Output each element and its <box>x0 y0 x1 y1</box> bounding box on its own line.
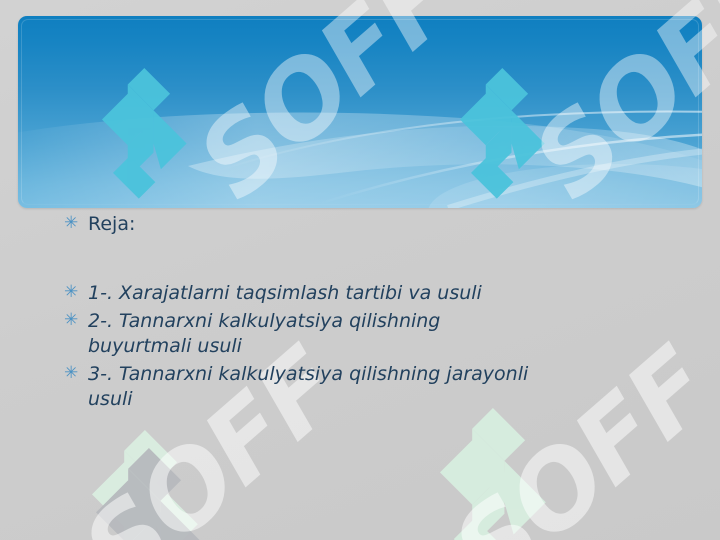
list-item: ✳ 1-. Xarajatlarni taqsimlash tartibi va… <box>64 281 664 306</box>
presentation-slide: SOFF SOFF SOFF SOFF ✳ Reja: ✳ 1-. Xaraja… <box>0 0 720 540</box>
decorative-header-banner <box>18 16 702 208</box>
asterisk-bullet-icon: ✳ <box>64 309 88 332</box>
banner-artwork <box>18 16 702 208</box>
content-spacer <box>64 237 664 281</box>
page-title: Reja: <box>88 212 664 237</box>
watermark-logo-green-left <box>92 430 198 540</box>
asterisk-bullet-icon: ✳ <box>64 362 88 385</box>
list-item-label: 1-. Xarajatlarni taqsimlash tartibi va u… <box>88 281 664 306</box>
slide-body: ✳ Reja: ✳ 1-. Xarajatlarni taqsimlash ta… <box>64 212 664 415</box>
asterisk-bullet-icon: ✳ <box>64 212 88 235</box>
asterisk-bullet-icon: ✳ <box>64 281 88 304</box>
list-item: ✳ 3-. Tannarxni kalkulyatsiya qilishning… <box>64 362 664 413</box>
watermark-logo-grey-left <box>96 448 202 540</box>
list-item-title: ✳ Reja: <box>64 212 664 237</box>
list-item-label: 3-. Tannarxni kalkulyatsiya qilishning j… <box>88 362 540 413</box>
watermark-logo-green-right <box>440 408 546 540</box>
list-item-label: 2-. Tannarxni kalkulyatsiya qilishning b… <box>88 309 540 360</box>
list-item: ✳ 2-. Tannarxni kalkulyatsiya qilishning… <box>64 309 664 360</box>
